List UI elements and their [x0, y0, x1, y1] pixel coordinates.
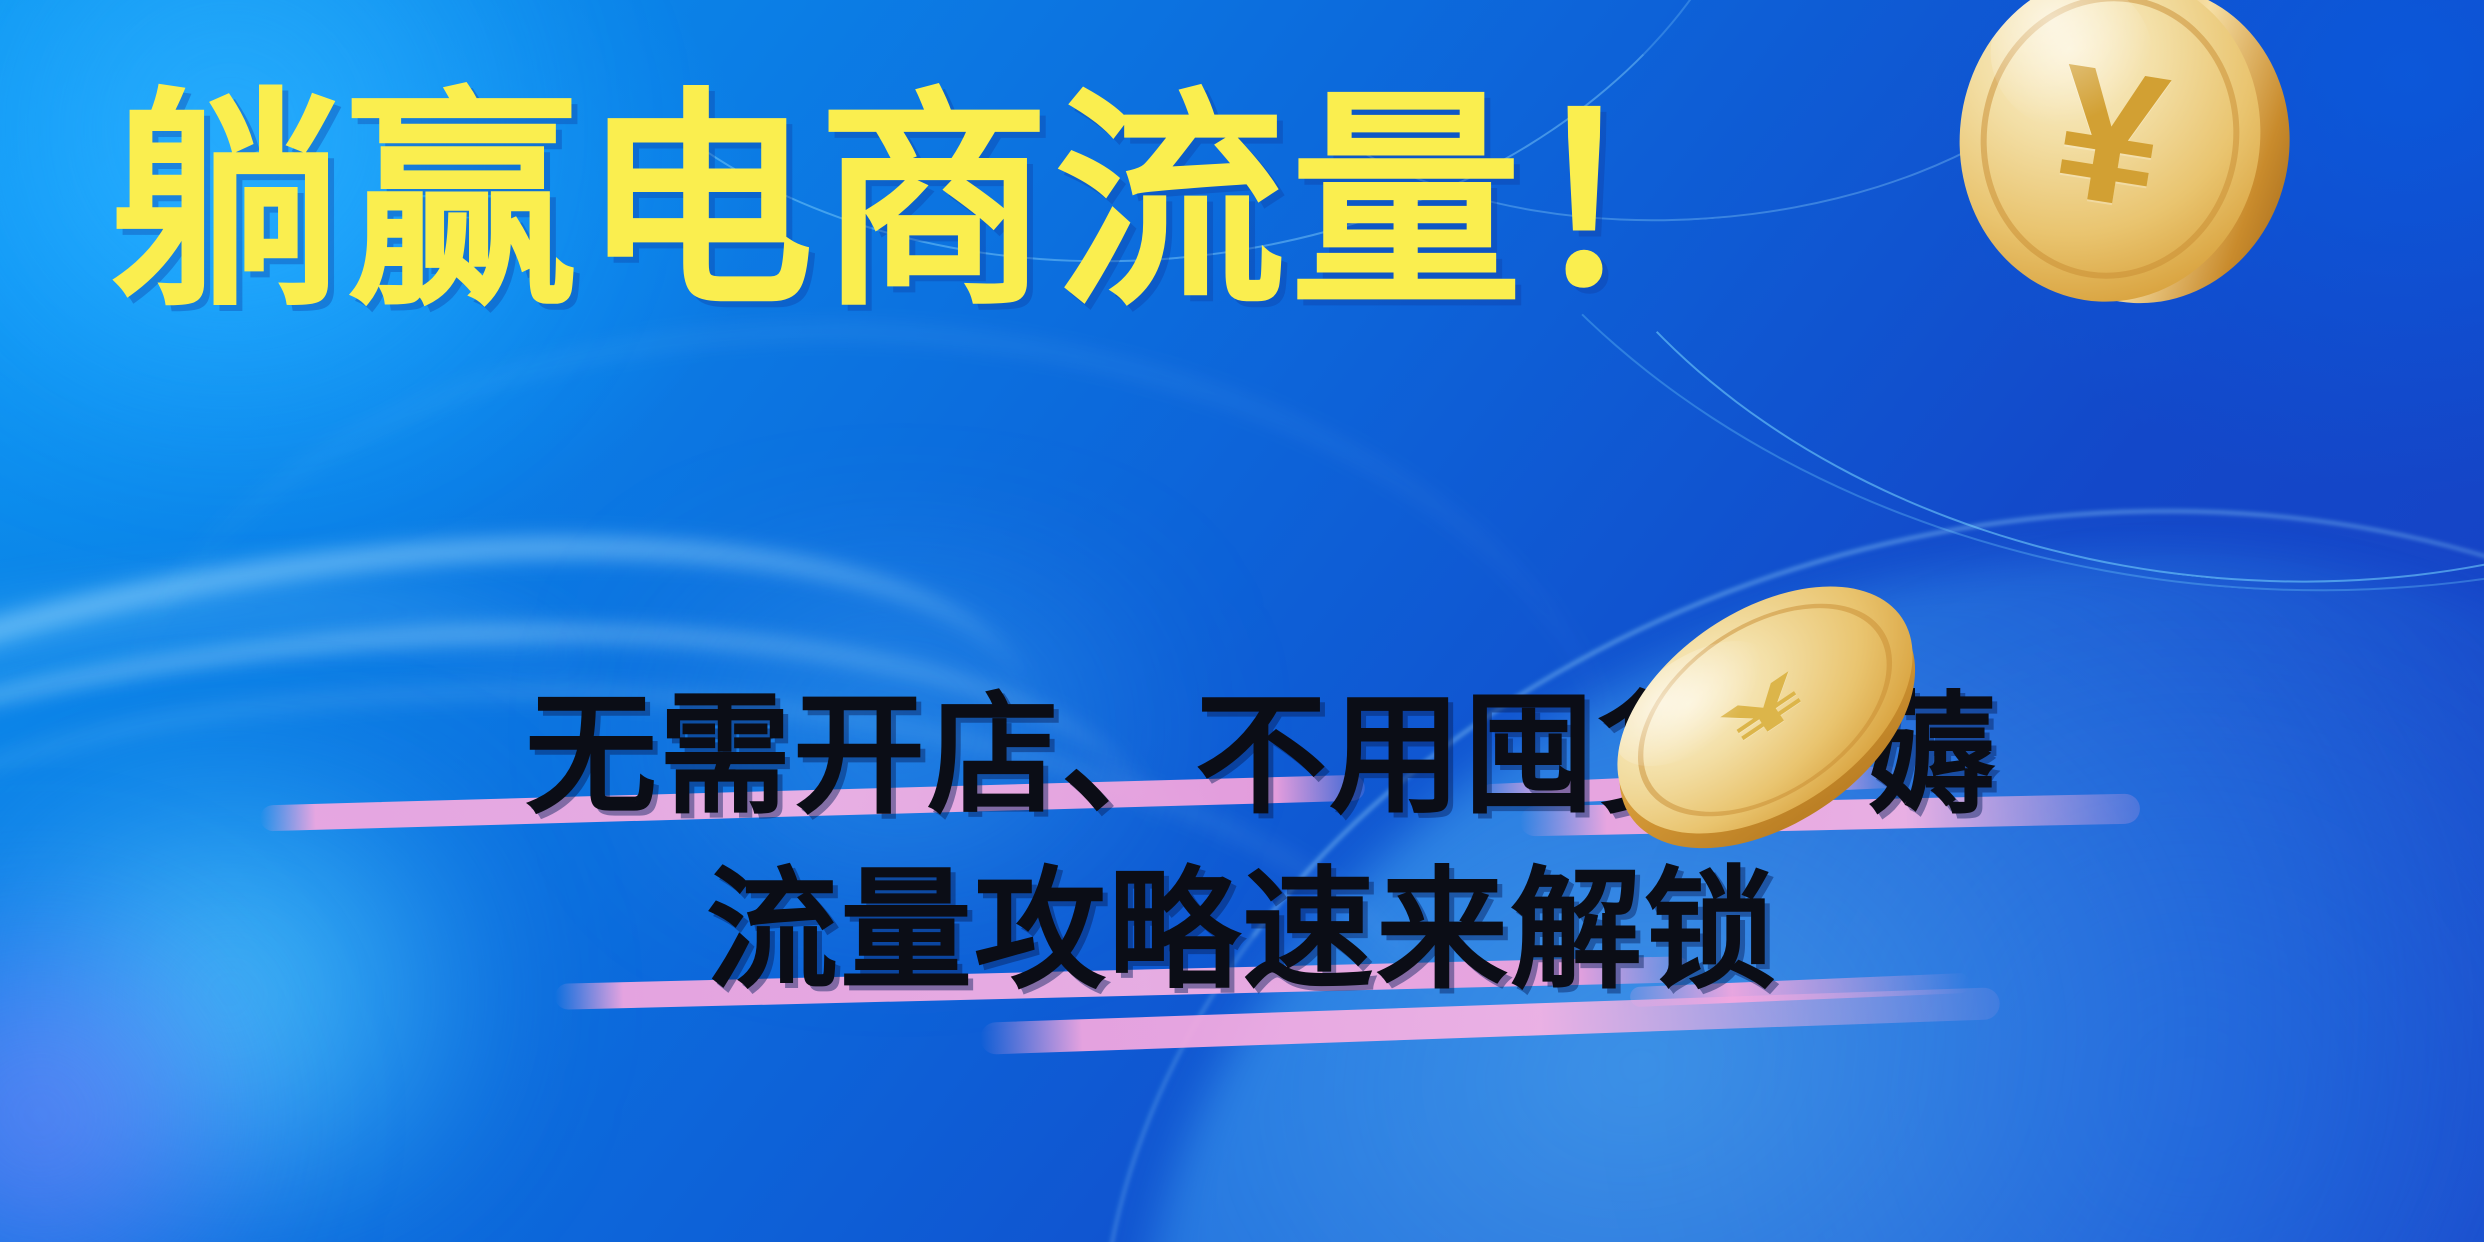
subtitle-line-2: 流量攻略速来解锁 [0, 865, 2484, 997]
gold-coin-icon: ¥ [1936, 0, 2284, 323]
subtitle-line-1: 无需开店、不用囤货、薅 [0, 690, 2484, 822]
promo-poster: ¥ 躺赢电商流量！ 无需开店、不用囤货、薅 ¥ 流量攻略速来解锁 [0, 0, 2484, 1242]
headline-title: 躺赢电商流量！ [110, 88, 1762, 320]
coin-face: ¥ [1936, 0, 2284, 323]
